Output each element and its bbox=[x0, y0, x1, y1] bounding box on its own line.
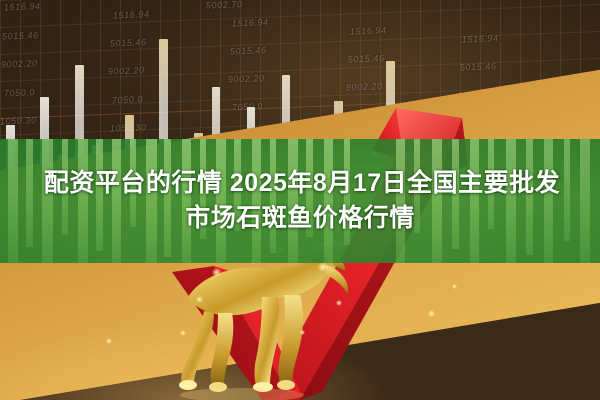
sparkle-dot bbox=[300, 330, 305, 335]
banner-title: 配资平台的行情 2025年8月17日全国主要批发 市场石斑鱼价格行情 bbox=[0, 139, 600, 263]
sparkle-dot bbox=[106, 338, 112, 344]
sparkle-dot bbox=[336, 300, 342, 306]
title-line-1: 配资平台的行情 2025年8月17日全国主要批发 bbox=[40, 169, 560, 199]
title-line-2: 市场石斑鱼价格行情 bbox=[185, 204, 415, 234]
sparkle-dot bbox=[428, 310, 435, 317]
sparkle-dot bbox=[212, 268, 221, 277]
sparkle-dot bbox=[318, 262, 328, 272]
sparkle-dot bbox=[452, 284, 457, 289]
sparkle-dot bbox=[196, 296, 203, 303]
sparkle-dot bbox=[180, 330, 186, 336]
banner-image: 1516.945015.469002.207050.01050.301516.9… bbox=[0, 0, 600, 400]
